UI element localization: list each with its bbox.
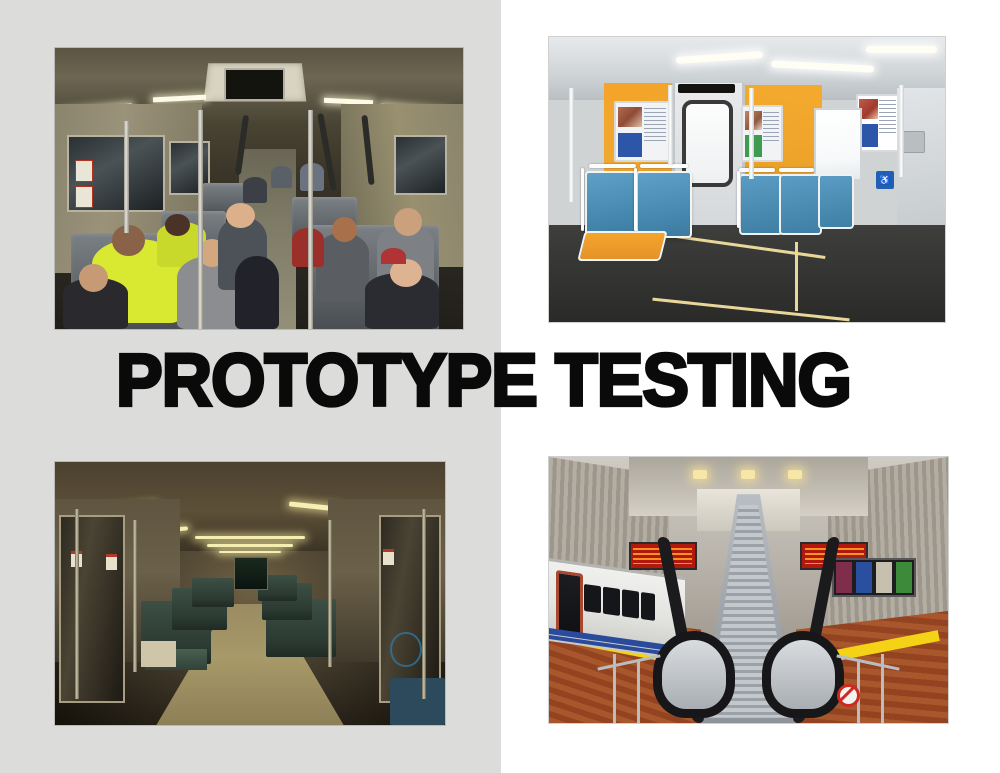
- no-eating-decal: [75, 186, 93, 208]
- poster-photo: [859, 99, 877, 118]
- prototype-seat: [585, 171, 640, 238]
- poster-text-lines: [763, 112, 779, 144]
- ceiling-lamp: [693, 470, 707, 479]
- passenger-bag: [235, 256, 280, 329]
- passenger: [271, 166, 291, 188]
- train-door: [556, 570, 584, 637]
- poster-color-block: [859, 124, 877, 147]
- ceiling-lamp: [741, 470, 755, 479]
- ceiling-light-row: [219, 551, 281, 553]
- door-warning-sign: [383, 549, 394, 565]
- poster-photo: [618, 107, 642, 128]
- intercom-panel: [903, 131, 925, 153]
- prototype-seat: [739, 174, 783, 235]
- seat-handrail: [589, 164, 637, 168]
- page-title: PROTOTYPE TESTING: [116, 345, 953, 414]
- photo-empty-train: [55, 462, 445, 725]
- crowded-train-scene: [55, 48, 463, 329]
- escalator-newel: [653, 631, 735, 718]
- ad-poster-blue: [614, 101, 669, 162]
- prototype-car-scene: ♿: [549, 37, 945, 322]
- prototype-seat: [818, 174, 854, 229]
- ad-poster-side: [856, 94, 900, 152]
- grab-pole: [308, 110, 313, 329]
- side-window: [814, 108, 862, 180]
- seat-handrail: [737, 171, 740, 228]
- photo-crowded-train: [55, 48, 463, 329]
- ad-slot: [856, 562, 872, 593]
- door-warning-sign: [106, 554, 117, 570]
- ad-slot: [836, 562, 852, 593]
- photo-station-escalator: [549, 457, 948, 723]
- photo-prototype-car: ♿: [549, 37, 945, 322]
- poster-text-lines: [644, 108, 666, 142]
- grab-pole: [422, 509, 426, 698]
- passenger: [243, 177, 267, 202]
- grab-pole: [328, 520, 332, 667]
- prototype-seat: [636, 171, 691, 238]
- passenger-head: [332, 217, 356, 242]
- grab-pole: [124, 121, 129, 233]
- ceiling-light-row: [207, 544, 293, 547]
- train-window: [641, 592, 655, 621]
- prototype-seat-base: [577, 231, 668, 261]
- ceiling-light-row: [195, 536, 304, 539]
- poster-color-block: [618, 133, 642, 157]
- train-window: [603, 586, 619, 615]
- seat-handrail: [739, 168, 775, 172]
- priority-seat-cushion: [141, 641, 176, 667]
- ceiling-lamp: [788, 470, 802, 479]
- seat-handrail: [634, 168, 637, 231]
- train-door-left: [59, 515, 125, 703]
- wheelchair-accessibility-icon: ♿: [876, 171, 894, 190]
- seat-handrail: [779, 168, 815, 172]
- ceiling-light: [866, 46, 937, 53]
- passenger-head: [165, 214, 189, 236]
- passenger-hat: [381, 248, 405, 265]
- poster-text-lines: [879, 100, 896, 132]
- graffiti-mark: [390, 632, 421, 668]
- seat-handrail: [640, 164, 688, 168]
- train-window: [622, 589, 638, 618]
- right-side-panel: [897, 88, 945, 225]
- station-ad-panel: [832, 558, 916, 597]
- train-seat: [390, 678, 445, 725]
- train-door-right: [379, 515, 442, 703]
- grab-pole: [198, 110, 203, 329]
- prototype-seat: [779, 174, 823, 235]
- station-escalator-scene: [549, 457, 948, 723]
- train-window: [584, 584, 600, 613]
- guard-railing-post: [637, 659, 640, 723]
- slide-canvas: ♿: [0, 0, 1000, 773]
- passenger-head: [226, 203, 255, 228]
- grab-pole: [569, 88, 574, 202]
- train-seat: [192, 578, 235, 607]
- grab-pole: [899, 85, 904, 176]
- floor-guide-stripe: [795, 242, 798, 310]
- ad-poster-green: [741, 105, 783, 162]
- far-end-door: [234, 557, 267, 591]
- grab-pole: [749, 88, 754, 179]
- ceiling-monitor: [224, 68, 285, 102]
- grab-pole: [668, 85, 673, 165]
- ad-slot: [896, 562, 912, 593]
- no-eating-decal: [75, 160, 93, 182]
- ad-slot: [876, 562, 892, 593]
- grab-pole: [75, 509, 79, 698]
- escalator-newel: [762, 631, 844, 718]
- passenger: [316, 233, 369, 300]
- grab-pole: [133, 520, 137, 673]
- train-window: [394, 135, 447, 195]
- destination-sign: [678, 84, 735, 93]
- seat-handrail: [581, 168, 584, 231]
- empty-train-scene: [55, 462, 445, 725]
